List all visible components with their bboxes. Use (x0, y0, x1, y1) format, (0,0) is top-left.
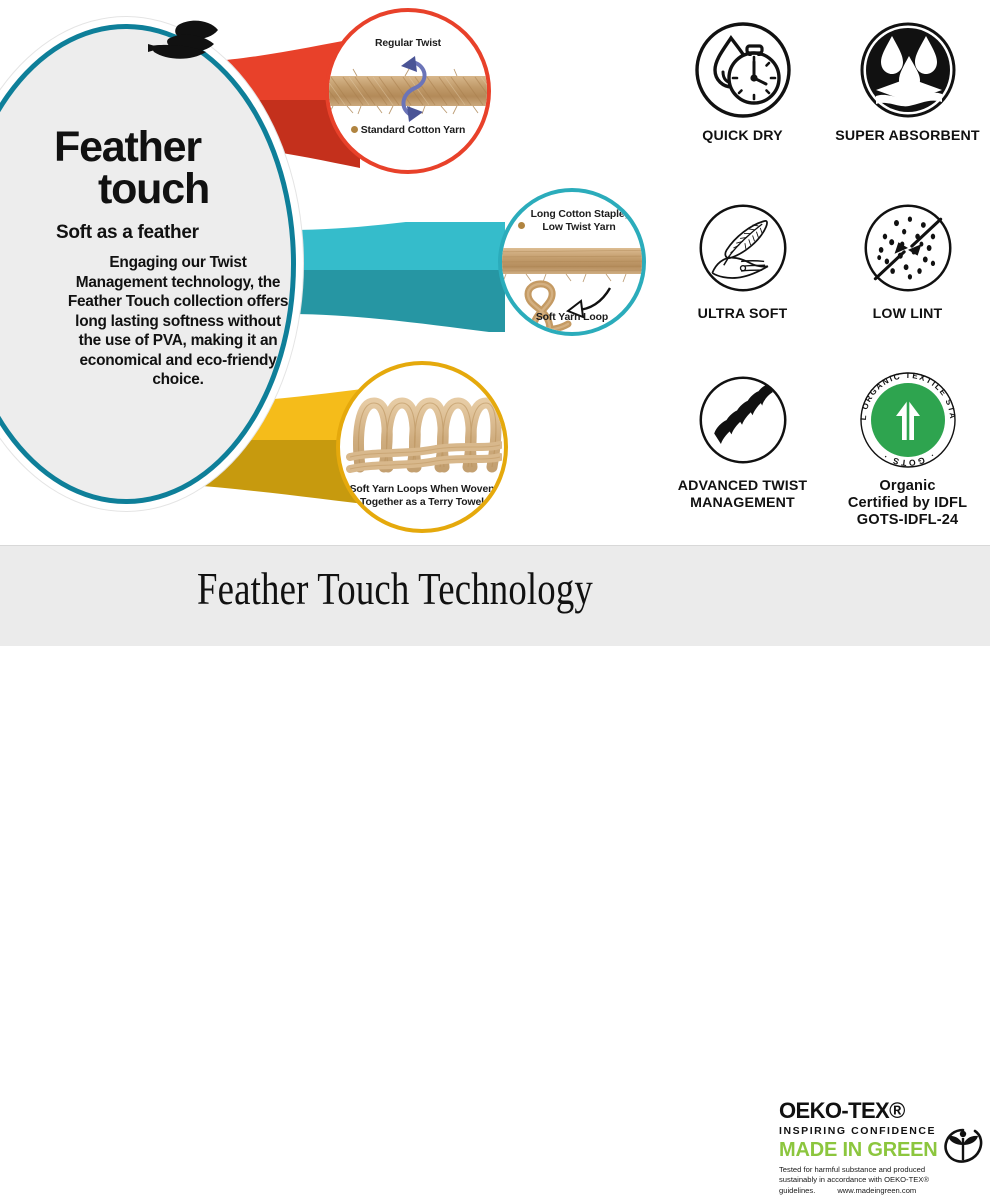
callout-1-title: Regular Twist (329, 38, 487, 51)
benefit-label: SUPER ABSORBENT (825, 128, 990, 145)
benefit-advanced-twist[interactable]: ADVANCED TWIST MANAGEMENT (660, 368, 825, 512)
callout-terry-loops[interactable]: Soft Yarn Loops When Woven Together as a… (336, 361, 508, 533)
hero-tagline: Soft as a feather (56, 222, 304, 244)
benefit-super-absorbent[interactable]: SUPER ABSORBENT (825, 18, 990, 145)
callout-low-twist[interactable]: Long Cotton Staple, Low Twist Yarn (498, 188, 646, 336)
page-title-line-2: touch (98, 168, 304, 212)
twist-direction-arrow-icon (391, 52, 433, 130)
benefit-gots-organic[interactable]: GLOBAL ORGANIC TEXTILE STANDARD · GOTS ·… (825, 368, 990, 530)
oeko-tex-title: OEKO-TEX® (779, 1100, 985, 1122)
terry-towel-loop-pile-icon (346, 383, 502, 479)
benefit-ultra-soft[interactable]: ULTRA SOFT (660, 196, 825, 323)
water-drop-stopwatch-icon (660, 18, 825, 122)
oeko-tex-tree-icon (941, 1121, 985, 1165)
yarn-swatch-dot (518, 222, 525, 229)
benefit-low-lint[interactable]: LOW LINT (825, 196, 990, 323)
callout-regular-twist[interactable]: Regular Twist (325, 8, 491, 174)
benefit-label: LOW LINT (825, 306, 990, 323)
banner-title: Feather Touch Technology (79, 562, 711, 615)
callout-2-caption: Soft Yarn Loop (502, 312, 642, 325)
hand-holding-feather-icon (148, 18, 220, 70)
infographic-canvas: Regular Twist (0, 0, 990, 646)
benefit-label: Organic Certified by IDFL GOTS-IDFL-24 (825, 478, 990, 530)
benefit-quick-dry[interactable]: QUICK DRY (660, 18, 825, 145)
bottom-banner: Feather Touch Technology OEKO-TEX® INSPI… (0, 545, 990, 646)
benefit-label: ADVANCED TWIST MANAGEMENT (660, 478, 825, 512)
benefit-label: ULTRA SOFT (660, 306, 825, 323)
oeko-tex-fineprint: Tested for harmful substance and produce… (779, 1165, 939, 1197)
hero-text-block: Feather touch Soft as a feather Engaging… (54, 126, 304, 390)
hero-description: Engaging our Twist Management technology… (64, 253, 292, 390)
callout-1-caption: Standard Cotton Yarn (329, 125, 487, 138)
benefit-label: QUICK DRY (660, 128, 825, 145)
callout-2-title: Long Cotton Staple, Low Twist Yarn (502, 209, 642, 234)
twist-bars-icon (660, 368, 825, 472)
yarn-swatch-dot (351, 126, 358, 133)
callout-3-caption: Soft Yarn Loops When Woven Together as a… (340, 484, 504, 509)
feather-on-hand-icon (660, 196, 825, 300)
soft-yarn-loop-icon (520, 278, 582, 334)
made-in-green-url[interactable]: www.madeingreen.com (837, 1186, 916, 1195)
gots-organic-seal-icon: GLOBAL ORGANIC TEXTILE STANDARD · GOTS · (825, 368, 990, 472)
oeko-tex-badge[interactable]: OEKO-TEX® INSPIRING CONFIDENCE MADE IN G… (779, 1099, 985, 1185)
page-title-line-1: Feather (54, 126, 304, 168)
absorbent-drops-fabric-icon (825, 18, 990, 122)
low-lint-particles-icon (825, 196, 990, 300)
benefits-grid: QUICK DRY SUPER ABSORBENT (660, 18, 990, 528)
